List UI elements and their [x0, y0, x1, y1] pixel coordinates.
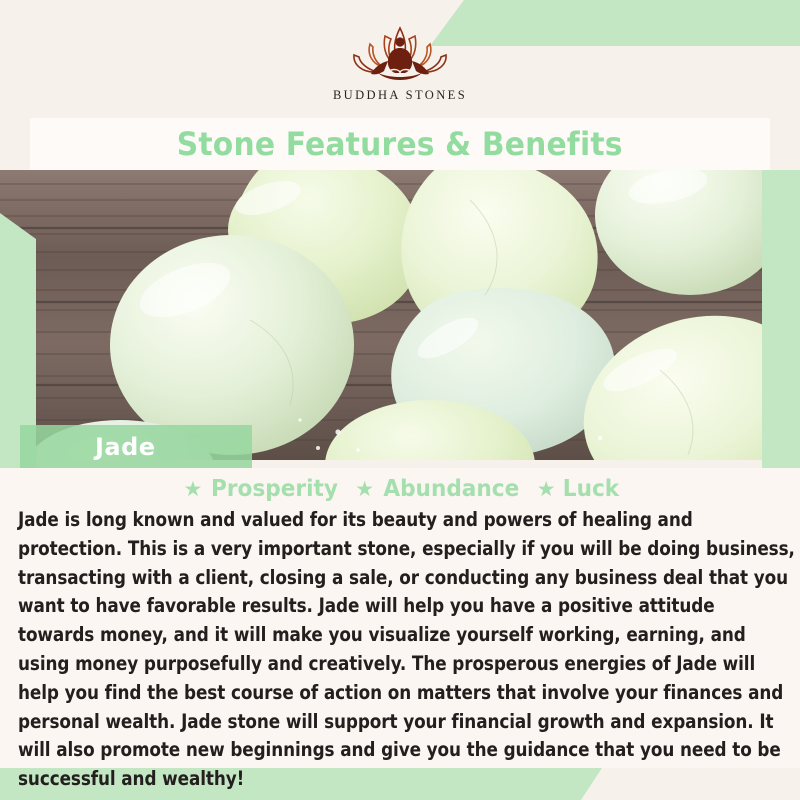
star-icon: ★ — [355, 479, 374, 500]
header: BUDDHA STONES — [0, 0, 800, 118]
lotus-meditation-icon — [325, 22, 475, 86]
keyword-luck: ★ Luck — [537, 476, 621, 502]
keyword-abundance: ★ Abundance — [355, 476, 523, 502]
keyword-label: Luck — [562, 476, 618, 502]
page-title: Stone Features & Benefits — [177, 125, 623, 163]
keyword-prosperity: ★ Prosperity — [183, 476, 342, 502]
content-panel: ★ Prosperity ★ Abundance ★ Luck Jade is … — [0, 468, 800, 768]
star-icon: ★ — [537, 479, 556, 500]
star-icon: ★ — [183, 479, 202, 500]
keywords-row: ★ Prosperity ★ Abundance ★ Luck — [18, 476, 786, 502]
keyword-label: Abundance — [383, 476, 519, 502]
stone-name-badge: Jade — [20, 425, 252, 468]
brand-name: BUDDHA STONES — [333, 88, 467, 103]
keyword-label: Prosperity — [211, 476, 338, 502]
title-banner: Stone Features & Benefits — [30, 118, 770, 170]
stone-description: Jade is long known and valued for its be… — [18, 506, 795, 794]
jade-pebbles-on-wood-photo — [0, 170, 800, 460]
stone-name: Jade — [95, 433, 156, 461]
